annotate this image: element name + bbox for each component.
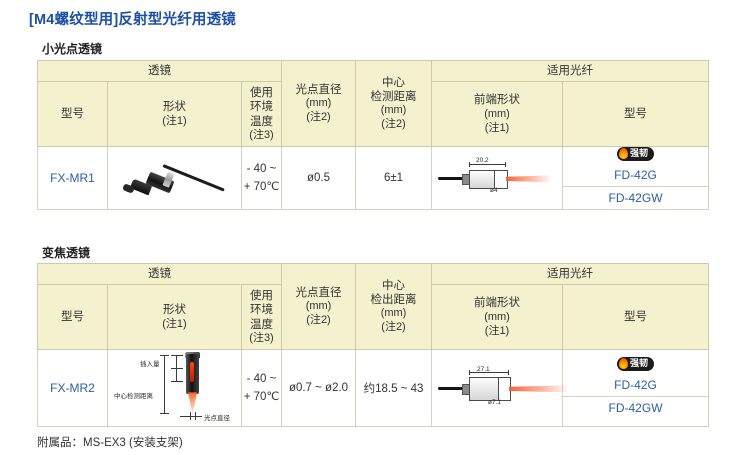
dim-tick-spot-right — [195, 412, 196, 420]
col-header-model: 型号 — [38, 285, 108, 350]
table-header-group-row: 透镜 光点直径 (mm) (注2) 中心 检测距离 (mm) (注2) 适用光纤 — [38, 61, 709, 82]
shape-label: 形状 — [110, 303, 239, 317]
col-header-center-distance: 中心 检出距离 (mm) (注2) — [356, 264, 432, 350]
fiber-cable — [438, 387, 464, 390]
group-header-lens: 透镜 — [38, 61, 282, 82]
col-header-model: 型号 — [38, 82, 108, 147]
fiber-head-diagram: 20.2 ø4 — [432, 156, 602, 200]
spot-diameter-note: (注2) — [284, 111, 353, 125]
temp-label-line1: 使用 — [244, 289, 279, 303]
col-header-fiber-model: 型号 — [563, 82, 709, 147]
cell-shape-image — [108, 147, 242, 210]
col-header-ambient-temperature: 使用 环境 温度 (注3) — [242, 285, 282, 350]
cell-spot-diameter: ø0.7 ~ ø2.0 — [282, 350, 356, 427]
tip-shape-note: (注1) — [434, 122, 560, 136]
center-distance-label2: 检测距离 — [358, 90, 429, 104]
temp-note: (注3) — [244, 129, 279, 143]
table-header-group-row: 透镜 光点直径 (mm) (注2) 中心 检出距离 (mm) (注2) 适用光纤 — [38, 264, 709, 285]
col-header-spot-diameter: 光点直径 (mm) (注2) — [282, 264, 356, 350]
group-header-lens: 透镜 — [38, 264, 282, 285]
col-header-shape: 形状 (注1) — [108, 82, 242, 147]
lens-red-core — [190, 362, 194, 382]
flame-icon — [619, 358, 628, 369]
badge-label: 强韧 — [630, 358, 648, 368]
temp-note: (注3) — [244, 332, 279, 346]
section-heading-small-spot: 小光点透镜 — [42, 40, 102, 57]
shape-label: 形状 — [110, 100, 239, 114]
col-header-shape: 形状 (注1) — [108, 285, 242, 350]
temp-value-line2: + 70℃ — [242, 178, 281, 196]
dim-text-length: 27.1 — [477, 366, 490, 373]
temp-label-line2: 环境 — [244, 303, 279, 317]
cell-tip-shape-image: 20.2 ø4 — [432, 147, 563, 210]
center-distance-label2: 检出距离 — [358, 293, 429, 307]
dim-tick-insert-top — [171, 355, 183, 356]
dim-line-length — [469, 164, 506, 165]
dim-tick-left — [469, 162, 470, 167]
col-header-tip-shape: 前端形状 (mm) (注1) — [432, 82, 563, 147]
dim-tick-center-top — [160, 355, 169, 356]
dim-tick-insert-mid — [171, 368, 183, 369]
temp-label-line3: 温度 — [244, 115, 279, 129]
dim-text-diameter: ø4 — [490, 187, 498, 194]
fiber-beam — [506, 175, 550, 182]
product-spec-page: [M4螺纹型用]反射型光纤用透镜 小光点透镜 透镜 光点直径 (mm) (注2)… — [0, 0, 737, 455]
shape-note: (注1) — [110, 115, 239, 129]
lens-photo-fx-mr1 — [115, 156, 235, 202]
dim-line-center-distance — [164, 355, 165, 414]
page-title: [M4螺纹型用]反射型光纤用透镜 — [29, 8, 236, 29]
spot-diameter-unit: (mm) — [284, 97, 353, 111]
fiber-head-diagram: 27.1 ø7.1 — [432, 366, 602, 410]
col-header-tip-shape: 前端形状 (mm) (注1) — [432, 285, 563, 350]
label-center-distance: 中心检测距离 — [114, 390, 153, 400]
spot-diameter-label: 光点直径 — [284, 286, 353, 300]
tip-shape-label: 前端形状 — [434, 296, 560, 310]
dim-text-diameter: ø7.1 — [488, 399, 501, 406]
cell-tip-shape-image: 27.1 ø7.1 — [432, 350, 563, 427]
label-insert-amount: 插入量 — [140, 358, 160, 368]
dim-text-length: 20.2 — [476, 157, 489, 164]
temp-label-line1: 使用 — [244, 86, 279, 100]
status-badge-tough: 强韧 — [617, 147, 654, 161]
tip-shape-label: 前端形状 — [434, 93, 560, 107]
cell-model: FX-MR2 — [38, 350, 108, 427]
status-badge-tough: 强韧 — [617, 357, 654, 371]
section-heading-zoom-lens: 变焦透镜 — [42, 244, 90, 261]
flame-icon — [619, 148, 628, 159]
zoom-lens-diagram: 插入量 中心检测距离 光点直径 — [108, 352, 258, 424]
spot-diameter-label: 光点直径 — [284, 83, 353, 97]
footnote-accessories: 附属品：MS-EX3 (安装支架) — [37, 434, 183, 450]
dim-tick-insert-bottom — [171, 381, 183, 382]
fiber-cable — [438, 177, 464, 180]
group-header-applicable-fiber: 适用光纤 — [432, 61, 709, 82]
cell-model: FX-MR1 — [38, 147, 108, 210]
dim-tick-center-bottom — [160, 413, 169, 414]
lens-beam — [188, 392, 197, 414]
tip-shape-unit: (mm) — [434, 311, 560, 325]
center-distance-label1: 中心 — [358, 279, 429, 293]
center-distance-note: (注2) — [358, 321, 429, 335]
dim-tick-left — [469, 370, 470, 375]
col-header-ambient-temperature: 使用 环境 温度 (注3) — [242, 82, 282, 147]
table-row: FX-MR2 插入量 — [38, 350, 709, 427]
col-header-center-distance: 中心 检测距离 (mm) (注2) — [356, 61, 432, 147]
dim-tick-right — [505, 162, 506, 167]
tip-shape-unit: (mm) — [434, 108, 560, 122]
col-header-spot-diameter: 光点直径 (mm) (注2) — [282, 61, 356, 147]
cell-shape-image: 插入量 中心检测距离 光点直径 — [108, 350, 242, 427]
center-distance-note: (注2) — [358, 118, 429, 132]
tip-shape-note: (注1) — [434, 325, 560, 339]
col-header-fiber-model: 型号 — [563, 285, 709, 350]
group-header-applicable-fiber: 适用光纤 — [432, 264, 709, 285]
label-spot-diameter: 光点直径 — [204, 412, 230, 422]
temp-label-line3: 温度 — [244, 318, 279, 332]
shape-note: (注1) — [110, 318, 239, 332]
fiber-body — [469, 377, 501, 401]
center-distance-label1: 中心 — [358, 76, 429, 90]
dim-tick-spot-left — [190, 412, 191, 420]
spot-diameter-unit: (mm) — [284, 300, 353, 314]
cell-center-distance: 6±1 — [356, 147, 432, 210]
dim-tick-right — [508, 370, 509, 375]
cell-spot-diameter: ø0.5 — [282, 147, 356, 210]
spec-table-small-spot-lens: 透镜 光点直径 (mm) (注2) 中心 检测距离 (mm) (注2) 适用光纤… — [37, 60, 709, 210]
center-distance-unit: (mm) — [358, 307, 429, 321]
dim-line-spot — [180, 416, 202, 417]
badge-label: 强韧 — [630, 148, 648, 158]
temp-value-line1: - 40 ~ — [242, 160, 281, 178]
cell-ambient-temperature: - 40 ~ + 70℃ — [242, 147, 282, 210]
temp-label-line2: 环境 — [244, 100, 279, 114]
cell-center-distance: 约18.5 ~ 43 — [356, 350, 432, 427]
fiber-beam — [509, 385, 567, 392]
spot-diameter-note: (注2) — [284, 314, 353, 328]
center-distance-unit: (mm) — [358, 104, 429, 118]
spec-table-zoom-lens: 透镜 光点直径 (mm) (注2) 中心 检出距离 (mm) (注2) 适用光纤… — [37, 263, 709, 427]
table-row: FX-MR1 - 40 ~ + 70℃ ø0.5 6±1 — [38, 147, 709, 210]
